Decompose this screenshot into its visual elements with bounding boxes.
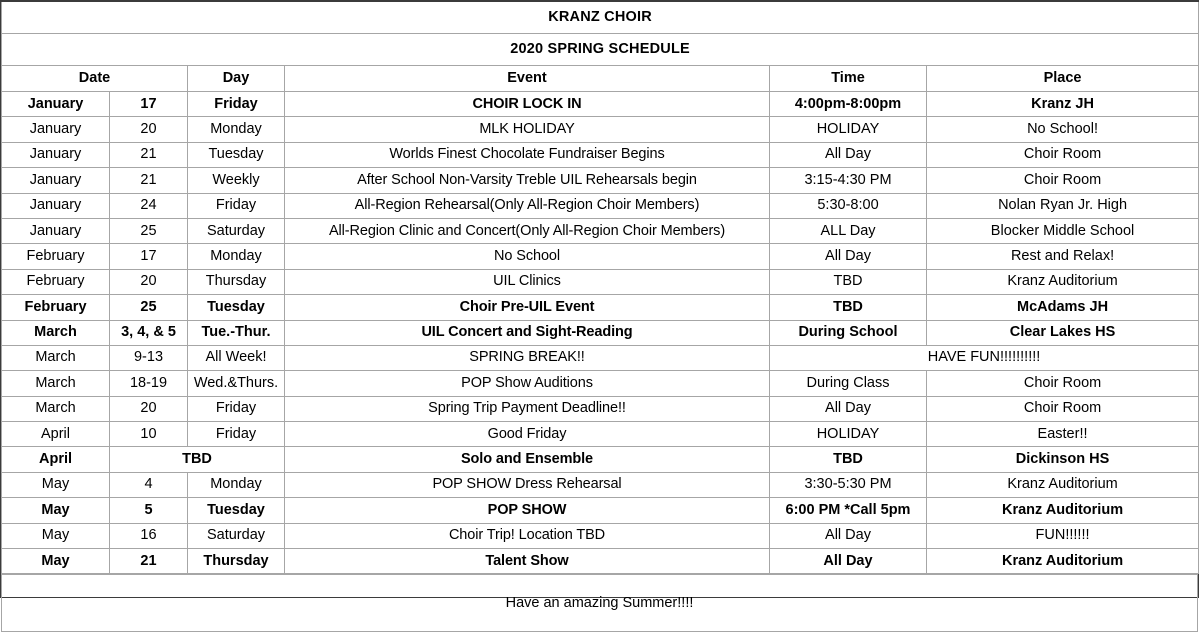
table-row[interactable]: January21WeeklyAfter School Non-Varsity … xyxy=(2,168,1199,193)
table-row[interactable]: May16SaturdayChoir Trip! Location TBDAll… xyxy=(2,523,1199,548)
column-header-day: Day xyxy=(188,66,285,92)
cell-place[interactable]: Kranz Auditorium xyxy=(927,549,1199,574)
cell-place[interactable]: Choir Room xyxy=(927,142,1199,167)
cell-place[interactable]: Blocker Middle School xyxy=(927,218,1199,243)
cell-day[interactable]: Saturday xyxy=(188,523,285,548)
cell-daynum[interactable]: 25 xyxy=(110,218,188,243)
cell-daynum[interactable]: 5 xyxy=(110,498,188,523)
cell-daynum[interactable]: 17 xyxy=(110,244,188,269)
cell-place[interactable]: Rest and Relax! xyxy=(927,244,1199,269)
cell-event[interactable]: SPRING BREAK!! xyxy=(285,345,770,370)
cell-event[interactable]: All-Region Rehearsal(Only All-Region Cho… xyxy=(285,193,770,218)
table-row[interactable]: February20ThursdayUIL ClinicsTBDKranz Au… xyxy=(2,269,1199,294)
cell-time[interactable]: TBD xyxy=(770,269,927,294)
cell-time[interactable]: 4:00pm-8:00pm xyxy=(770,92,927,117)
cell-daynum[interactable]: 24 xyxy=(110,193,188,218)
cell-daynum[interactable]: 21 xyxy=(110,168,188,193)
cell-event[interactable]: All-Region Clinic and Concert(Only All-R… xyxy=(285,218,770,243)
cell-daynum[interactable]: 20 xyxy=(110,269,188,294)
cell-daynum[interactable]: 20 xyxy=(110,117,188,142)
cell-time[interactable]: 3:15-4:30 PM xyxy=(770,168,927,193)
cell-day[interactable]: Friday xyxy=(188,92,285,117)
column-header-date: Date xyxy=(2,66,188,92)
cell-place[interactable]: McAdams JH xyxy=(927,295,1199,320)
cell-month[interactable]: January xyxy=(2,92,110,117)
column-header-time: Time xyxy=(770,66,927,92)
cell-day[interactable]: Friday xyxy=(188,193,285,218)
cell-day[interactable]: Friday xyxy=(188,396,285,421)
document-title-row: KRANZ CHOIR xyxy=(2,2,1199,34)
cell-month[interactable]: May xyxy=(2,523,110,548)
table-row[interactable]: April10FridayGood FridayHOLIDAYEaster!! xyxy=(2,422,1199,447)
cell-daynum[interactable]: 10 xyxy=(110,422,188,447)
cell-time[interactable]: During Class xyxy=(770,371,927,396)
cell-month[interactable]: January xyxy=(2,168,110,193)
cell-time[interactable]: All Day xyxy=(770,549,927,574)
cell-month[interactable]: March xyxy=(2,371,110,396)
closing-message: Have an amazing Summer!!!! xyxy=(2,575,1198,632)
cell-month[interactable]: April xyxy=(2,447,110,472)
cell-place[interactable]: No School! xyxy=(927,117,1199,142)
cell-place[interactable]: Choir Room xyxy=(927,371,1199,396)
cell-time[interactable]: 5:30-8:00 xyxy=(770,193,927,218)
cell-daynum[interactable]: 18-19 xyxy=(110,371,188,396)
cell-day[interactable]: Monday xyxy=(188,117,285,142)
cell-event[interactable]: Talent Show xyxy=(285,549,770,574)
table-row[interactable]: March3, 4, & 5Tue.-Thur.UIL Concert and … xyxy=(2,320,1199,345)
table-row[interactable]: January24FridayAll-Region Rehearsal(Only… xyxy=(2,193,1199,218)
cell-event[interactable]: No School xyxy=(285,244,770,269)
cell-place[interactable]: Kranz Auditorium xyxy=(927,498,1199,523)
cell-day[interactable]: All Week! xyxy=(188,345,285,370)
column-header-place: Place xyxy=(927,66,1199,92)
table-row[interactable]: May4MondayPOP SHOW Dress Rehearsal3:30-5… xyxy=(2,472,1199,497)
cell-time[interactable]: All Day xyxy=(770,523,927,548)
cell-day[interactable]: Monday xyxy=(188,472,285,497)
cell-daynum[interactable]: 3, 4, & 5 xyxy=(110,320,188,345)
cell-event[interactable]: Worlds Finest Chocolate Fundraiser Begin… xyxy=(285,142,770,167)
cell-time[interactable]: 6:00 PM *Call 5pm xyxy=(770,498,927,523)
cell-daynum[interactable]: 16 xyxy=(110,523,188,548)
cell-event[interactable]: Spring Trip Payment Deadline!! xyxy=(285,396,770,421)
cell-daynum[interactable]: 25 xyxy=(110,295,188,320)
cell-event[interactable]: After School Non-Varsity Treble UIL Rehe… xyxy=(285,168,770,193)
cell-time[interactable]: All Day xyxy=(770,396,927,421)
spreadsheet-sheet: KRANZ CHOIR 2020 SPRING SCHEDULE Date Da… xyxy=(0,0,1199,598)
cell-daynum[interactable]: 20 xyxy=(110,396,188,421)
cell-place[interactable]: Clear Lakes HS xyxy=(927,320,1199,345)
cell-month[interactable]: May xyxy=(2,472,110,497)
cell-month[interactable]: February xyxy=(2,269,110,294)
cell-event[interactable]: Solo and Ensemble xyxy=(285,447,770,472)
cell-event[interactable]: Choir Pre-UIL Event xyxy=(285,295,770,320)
schedule-table: KRANZ CHOIR 2020 SPRING SCHEDULE Date Da… xyxy=(1,2,1199,574)
cell-time-place-merged[interactable]: HAVE FUN!!!!!!!!!! xyxy=(770,345,1199,370)
table-row[interactable]: February17MondayNo SchoolAll DayRest and… xyxy=(2,244,1199,269)
table-row[interactable]: May21ThursdayTalent ShowAll DayKranz Aud… xyxy=(2,549,1199,574)
schedule-table-body: KRANZ CHOIR 2020 SPRING SCHEDULE Date Da… xyxy=(2,2,1199,574)
cell-time[interactable]: ALL Day xyxy=(770,218,927,243)
cell-event[interactable]: CHOIR LOCK IN xyxy=(285,92,770,117)
cell-event[interactable]: MLK HOLIDAY xyxy=(285,117,770,142)
cell-place[interactable]: Kranz Auditorium xyxy=(927,472,1199,497)
cell-time[interactable]: HOLIDAY xyxy=(770,422,927,447)
footer-table: Have an amazing Summer!!!! xyxy=(1,574,1198,632)
column-header-event: Event xyxy=(285,66,770,92)
cell-day[interactable]: Friday xyxy=(188,422,285,447)
table-row[interactable]: March9-13All Week!SPRING BREAK!!HAVE FUN… xyxy=(2,345,1199,370)
table-row[interactable]: March20FridaySpring Trip Payment Deadlin… xyxy=(2,396,1199,421)
cell-time[interactable]: All Day xyxy=(770,244,927,269)
cell-daynum[interactable]: 21 xyxy=(110,549,188,574)
cell-month[interactable]: March xyxy=(2,345,110,370)
cell-month[interactable]: January xyxy=(2,218,110,243)
page-subtitle: 2020 SPRING SCHEDULE xyxy=(2,34,1199,66)
cell-place[interactable]: Kranz Auditorium xyxy=(927,269,1199,294)
cell-event[interactable]: Good Friday xyxy=(285,422,770,447)
table-row[interactable]: March18-19Wed.&Thurs.POP Show AuditionsD… xyxy=(2,371,1199,396)
cell-day[interactable]: Monday xyxy=(188,244,285,269)
cell-month[interactable]: January xyxy=(2,142,110,167)
cell-daynum[interactable]: 17 xyxy=(110,92,188,117)
table-row[interactable]: January20MondayMLK HOLIDAYHOLIDAYNo Scho… xyxy=(2,117,1199,142)
cell-time[interactable]: All Day xyxy=(770,142,927,167)
cell-day[interactable]: Thursday xyxy=(188,269,285,294)
cell-event[interactable]: POP Show Auditions xyxy=(285,371,770,396)
table-row[interactable]: January17FridayCHOIR LOCK IN4:00pm-8:00p… xyxy=(2,92,1199,117)
cell-month[interactable]: April xyxy=(2,422,110,447)
cell-place[interactable]: Dickinson HS xyxy=(927,447,1199,472)
table-row[interactable]: AprilTBDSolo and EnsembleTBDDickinson HS xyxy=(2,447,1199,472)
cell-month[interactable]: February xyxy=(2,295,110,320)
cell-day[interactable]: Tuesday xyxy=(188,498,285,523)
cell-event[interactable]: UIL Concert and Sight-Reading xyxy=(285,320,770,345)
cell-place[interactable]: Nolan Ryan Jr. High xyxy=(927,193,1199,218)
cell-day[interactable]: Tue.-Thur. xyxy=(188,320,285,345)
cell-month[interactable]: May xyxy=(2,549,110,574)
cell-place[interactable]: Kranz JH xyxy=(927,92,1199,117)
cell-time[interactable]: HOLIDAY xyxy=(770,117,927,142)
cell-place[interactable]: Choir Room xyxy=(927,168,1199,193)
cell-time[interactable]: 3:30-5:30 PM xyxy=(770,472,927,497)
cell-place[interactable]: Choir Room xyxy=(927,396,1199,421)
cell-month[interactable]: May xyxy=(2,498,110,523)
footer-row: Have an amazing Summer!!!! xyxy=(2,575,1198,632)
cell-time[interactable]: TBD xyxy=(770,447,927,472)
table-row[interactable]: February25TuesdayChoir Pre-UIL EventTBDM… xyxy=(2,295,1199,320)
cell-daynum[interactable]: 21 xyxy=(110,142,188,167)
cell-place[interactable]: Easter!! xyxy=(927,422,1199,447)
cell-event[interactable]: UIL Clinics xyxy=(285,269,770,294)
cell-month[interactable]: March xyxy=(2,320,110,345)
document-subtitle-row: 2020 SPRING SCHEDULE xyxy=(2,34,1199,66)
cell-day[interactable]: Wed.&Thurs. xyxy=(188,371,285,396)
cell-day[interactable]: Tuesday xyxy=(188,295,285,320)
table-row[interactable]: January21TuesdayWorlds Finest Chocolate … xyxy=(2,142,1199,167)
cell-day[interactable]: Thursday xyxy=(188,549,285,574)
cell-event[interactable]: POP SHOW xyxy=(285,498,770,523)
cell-month[interactable]: February xyxy=(2,244,110,269)
cell-date-day-merged[interactable]: TBD xyxy=(110,447,285,472)
cell-month[interactable]: January xyxy=(2,193,110,218)
cell-time[interactable]: TBD xyxy=(770,295,927,320)
table-row[interactable]: January25SaturdayAll-Region Clinic and C… xyxy=(2,218,1199,243)
cell-place[interactable]: FUN!!!!!! xyxy=(927,523,1199,548)
page-title: KRANZ CHOIR xyxy=(2,2,1199,34)
table-row[interactable]: May5TuesdayPOP SHOW6:00 PM *Call 5pmKran… xyxy=(2,498,1199,523)
cell-event[interactable]: POP SHOW Dress Rehearsal xyxy=(285,472,770,497)
cell-day[interactable]: Weekly xyxy=(188,168,285,193)
cell-month[interactable]: March xyxy=(2,396,110,421)
cell-time[interactable]: During School xyxy=(770,320,927,345)
table-header-row: Date Day Event Time Place xyxy=(2,66,1199,92)
cell-day[interactable]: Saturday xyxy=(188,218,285,243)
cell-month[interactable]: January xyxy=(2,117,110,142)
cell-day[interactable]: Tuesday xyxy=(188,142,285,167)
cell-daynum[interactable]: 4 xyxy=(110,472,188,497)
cell-daynum[interactable]: 9-13 xyxy=(110,345,188,370)
cell-event[interactable]: Choir Trip! Location TBD xyxy=(285,523,770,548)
